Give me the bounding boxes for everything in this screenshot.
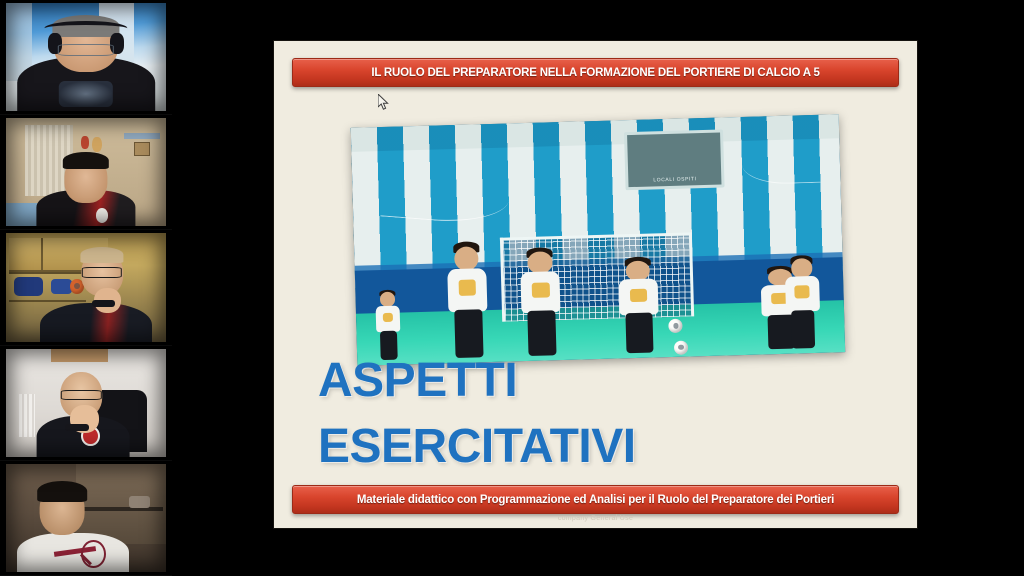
participant-video-1 bbox=[6, 3, 166, 111]
player-1 bbox=[375, 293, 401, 360]
participant-tile-3[interactable]: participant-3 bbox=[0, 230, 172, 345]
scoreboard: LOCALI OSPITI bbox=[624, 129, 724, 190]
slide-bottom-banner: Materiale didattico con Programmazione e… bbox=[292, 485, 899, 514]
player-3 bbox=[520, 253, 562, 356]
participant-tile-2[interactable]: participant-2 bbox=[0, 115, 172, 230]
player-2 bbox=[447, 248, 489, 359]
participant-video-5 bbox=[6, 464, 166, 572]
participant-tile-1[interactable]: participant-1 bbox=[0, 0, 172, 115]
participant-video-4 bbox=[6, 349, 166, 457]
slide-title-line-1: ASPETTI bbox=[318, 357, 517, 405]
participant-filmstrip: participant-1 participant-2 bbox=[0, 0, 172, 576]
video-call-screen: participant-1 participant-2 bbox=[0, 0, 1024, 576]
slide-faint-footer: company General Use bbox=[274, 515, 917, 522]
participant-video-2 bbox=[6, 118, 166, 226]
slide-top-banner-text: IL RUOLO DEL PREPARATORE NELLA FORMAZION… bbox=[371, 67, 819, 79]
scoreboard-text: LOCALI OSPITI bbox=[629, 176, 722, 185]
shared-slide[interactable]: IL RUOLO DEL PREPARATORE NELLA FORMAZION… bbox=[274, 41, 917, 528]
participant-tile-4[interactable]: participant-4 bbox=[0, 346, 172, 461]
slide-top-banner: IL RUOLO DEL PREPARATORE NELLA FORMAZION… bbox=[292, 58, 899, 87]
ball-2 bbox=[674, 340, 688, 354]
slide-title-line-2: ESERCITATIVI bbox=[318, 423, 636, 471]
mouse-cursor-icon bbox=[378, 94, 390, 111]
slide-bottom-banner-text: Materiale didattico con Programmazione e… bbox=[357, 494, 834, 506]
player-6 bbox=[784, 260, 821, 349]
player-4 bbox=[618, 262, 660, 353]
participant-tile-5[interactable]: participant-5 bbox=[0, 461, 172, 576]
futsal-training-photo: LOCALI OSPITI bbox=[351, 114, 845, 366]
participant-video-3 bbox=[6, 233, 166, 341]
